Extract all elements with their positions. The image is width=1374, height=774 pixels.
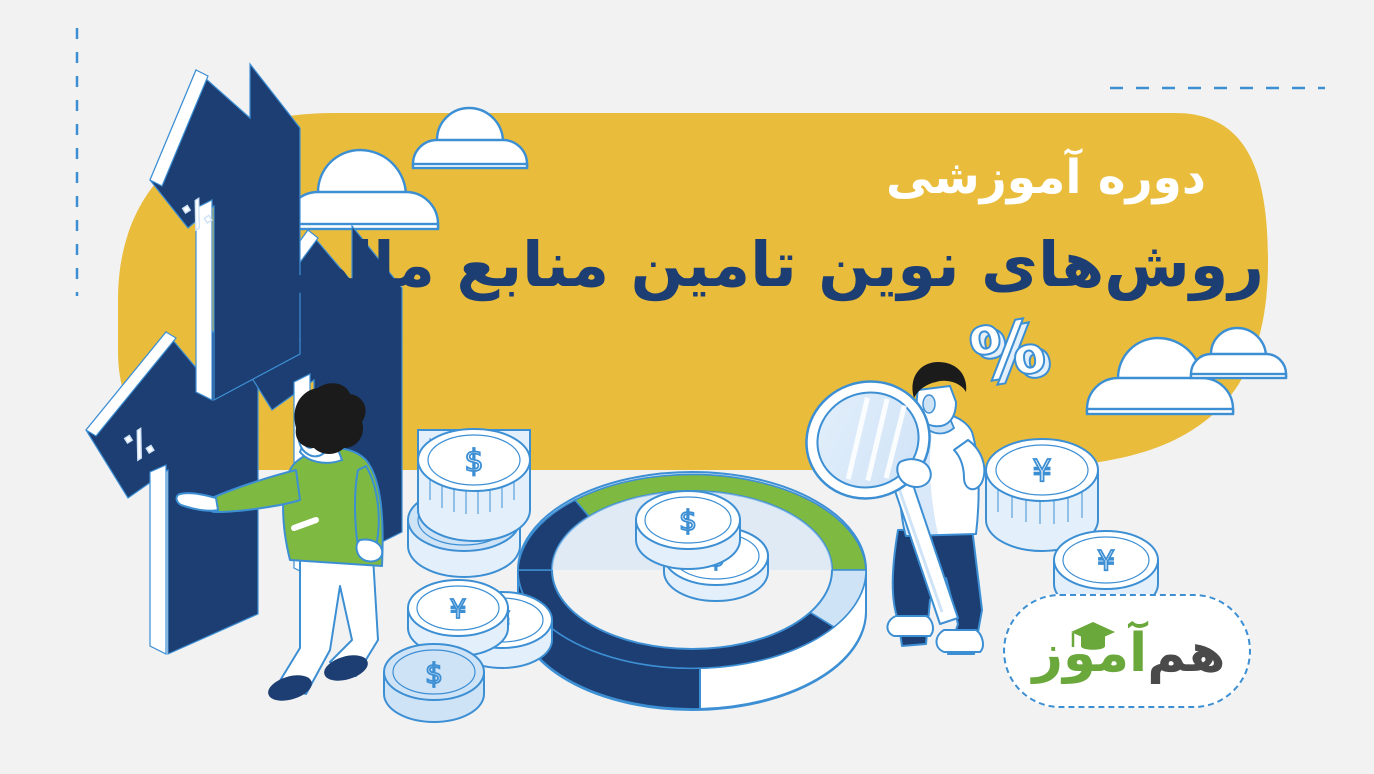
percent-symbol-floating: % % xyxy=(964,302,1058,405)
svg-text:¥: ¥ xyxy=(1097,544,1115,577)
logo-part-ham: هم xyxy=(1147,627,1225,680)
course-headline: روش‌های نوین تامین منابع مالی xyxy=(287,228,1264,301)
svg-text:¥: ¥ xyxy=(1032,454,1051,489)
svg-text:%: % xyxy=(964,303,1052,401)
coin-single-dollar-left: $ xyxy=(384,644,484,722)
poster-canvas: ٪ ٪ ٪ % % xyxy=(0,0,1374,774)
svg-text:$: $ xyxy=(464,444,483,479)
course-kicker: دوره آموزشی xyxy=(886,150,1206,205)
coin-stack-dollar: $ $ xyxy=(408,429,530,577)
brand-logo-badge[interactable]: هم آموز xyxy=(1003,594,1251,708)
brand-logo-text: هم آموز xyxy=(1005,596,1253,710)
svg-text:$: $ xyxy=(679,504,697,537)
svg-text:¥: ¥ xyxy=(450,595,467,625)
logo-part-amooz: آموز xyxy=(1032,627,1147,680)
donut-chart: $ $ xyxy=(518,472,866,710)
svg-text:$: $ xyxy=(425,657,443,690)
coin-center-dollar-a: $ xyxy=(636,491,740,569)
